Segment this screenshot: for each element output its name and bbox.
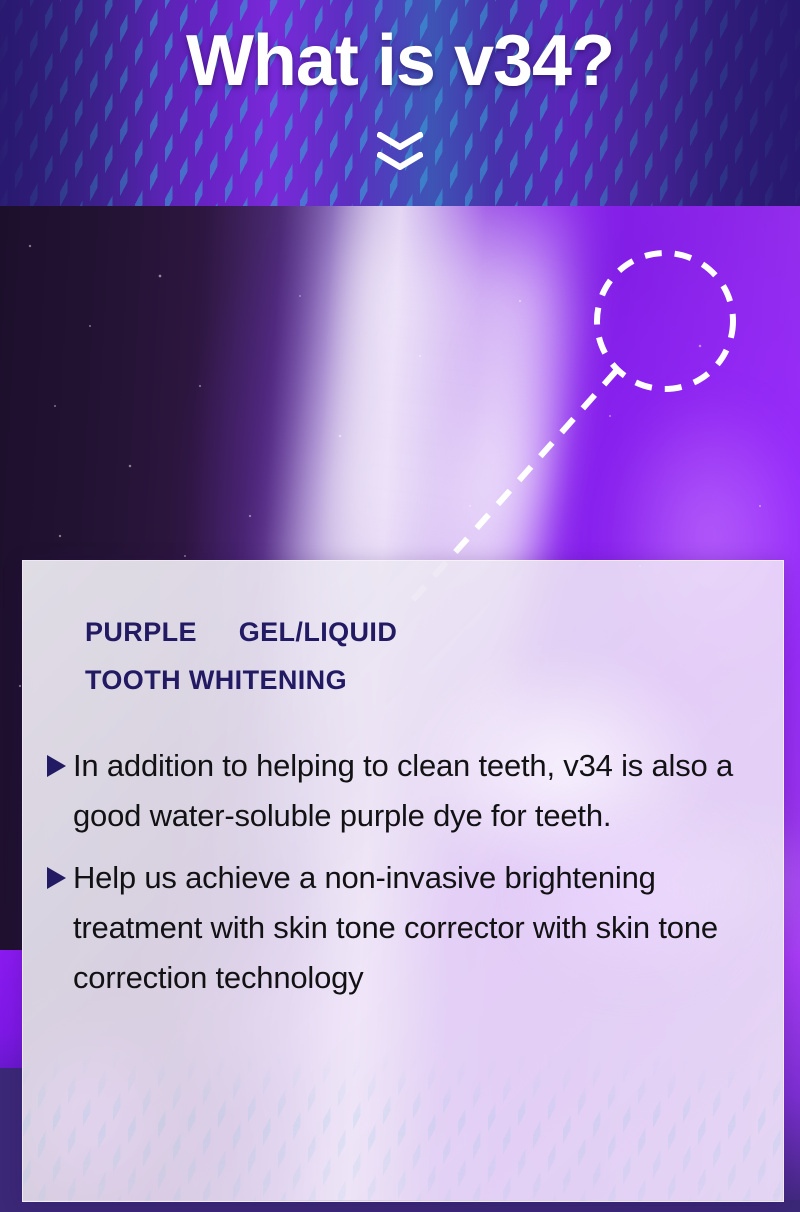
frame-strip-left-lower <box>0 1068 22 1212</box>
double-chevron-down-icon <box>377 132 423 150</box>
triangle-right-bullet-icon <box>45 865 73 891</box>
header-banner: What is v34? <box>0 0 800 206</box>
card-kicker-line-2: TOOTH WHITENING <box>85 665 347 696</box>
product-infographic-page: What is v34? <box>0 0 800 1212</box>
frame-strip-right <box>782 950 800 1212</box>
list-item-text: In addition to helping to clean teeth, v… <box>73 741 775 841</box>
list-item-text: Help us achieve a non-invasive brighteni… <box>73 853 775 1003</box>
list-item: In addition to helping to clean teeth, v… <box>45 741 775 841</box>
info-card: PURPLE GEL/LIQUID TOOTH WHITENING In add… <box>22 560 784 1202</box>
list-item: Help us achieve a non-invasive brighteni… <box>45 853 775 1003</box>
frame-strip-left-upper <box>0 950 22 1068</box>
triangle-right-bullet-icon <box>45 753 73 779</box>
card-kicker-purple: PURPLE <box>85 617 197 647</box>
card-kicker-gel-liquid: GEL/LIQUID <box>239 617 398 647</box>
page-title: What is v34? <box>0 25 800 97</box>
benefit-list: In addition to helping to clean teeth, v… <box>45 741 775 1015</box>
card-kicker-line-1: PURPLE GEL/LIQUID <box>85 617 397 648</box>
card-diagonal-dash-texture <box>23 1051 783 1201</box>
double-chevron-down-icon-second <box>377 152 423 170</box>
scroll-down-indicator[interactable] <box>0 132 800 172</box>
